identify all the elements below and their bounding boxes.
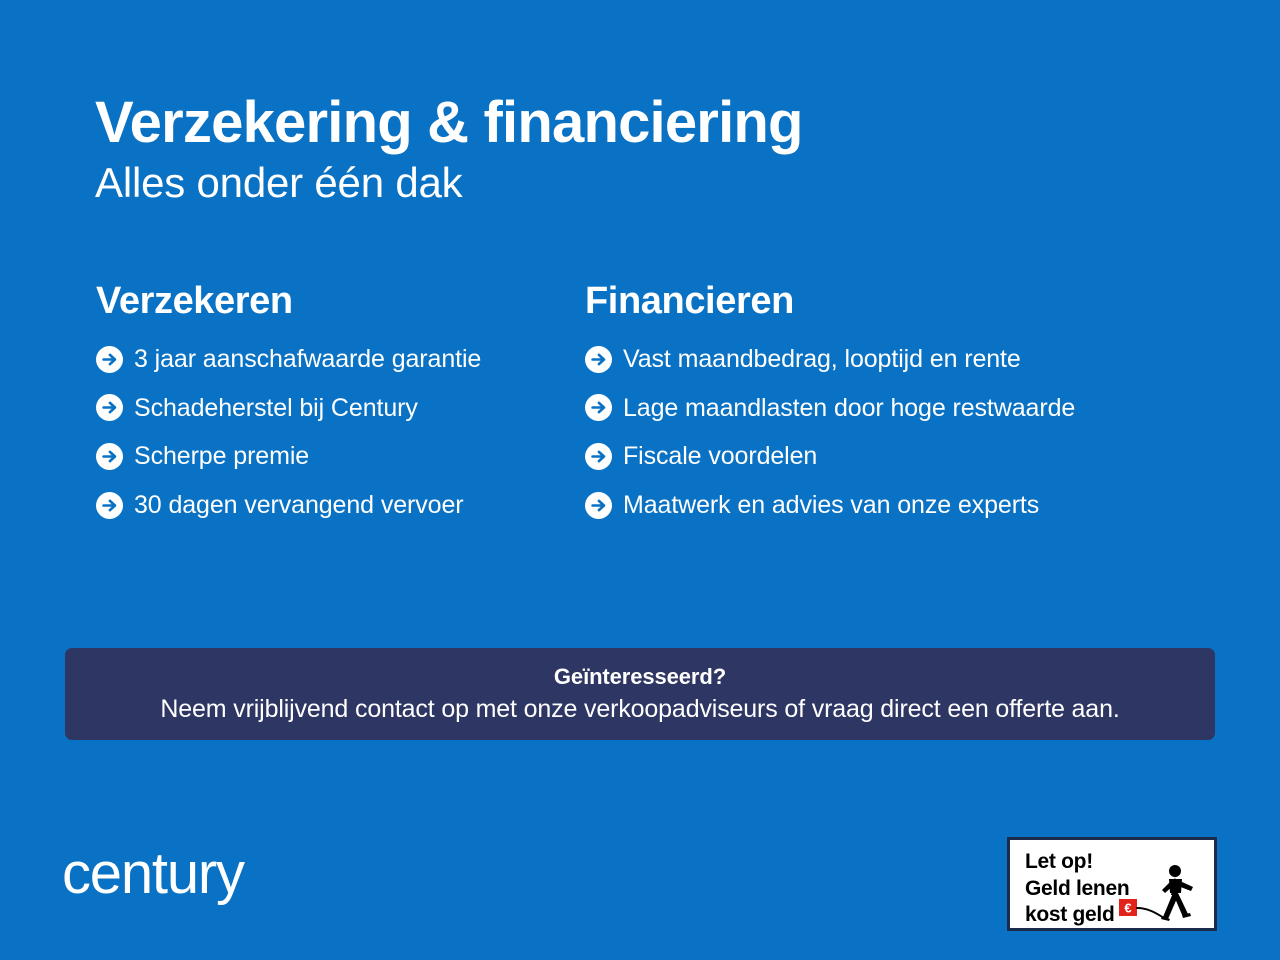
header: Verzekering & financiering Alles onder é… [95,93,1095,209]
column-verzekeren: Verzekeren 3 jaar aanschafwaarde garanti… [0,281,565,520]
arrow-right-circle-icon [585,443,612,470]
arrow-right-circle-icon [96,443,123,470]
cta-banner[interactable]: Geïnteresseerd? Neem vrijblijvend contac… [65,648,1215,740]
arrow-right-circle-icon [585,394,612,421]
column-heading-financieren: Financieren [585,281,1280,323]
list-item: Schadeherstel bij Century [96,394,565,423]
list-item-label: Lage maandlasten door hoge restwaarde [623,394,1075,423]
list-item-label: Scherpe premie [134,442,309,471]
list-item-label: Fiscale voordelen [623,442,817,471]
arrow-right-circle-icon [585,346,612,373]
cta-text: Neem vrijblijvend contact op met onze ve… [160,695,1119,724]
bullet-list-financieren: Vast maandbedrag, looptijd en rente Lage… [585,345,1280,520]
bullet-list-verzekeren: 3 jaar aanschafwaarde garantie Schadeher… [96,345,565,520]
svg-text:€: € [1124,901,1131,916]
list-item-label: Vast maandbedrag, looptijd en rente [623,345,1021,374]
list-item: 30 dagen vervangend vervoer [96,491,565,520]
status-badge: Let op! Geld lenen kost geld € [1007,837,1217,931]
century-logo: century [62,845,244,903]
list-item: 3 jaar aanschafwaarde garantie [96,345,565,374]
page-subtitle: Alles onder één dak [95,158,1095,208]
warning-line-2: Geld lenen [1025,876,1129,903]
list-item: Scherpe premie [96,442,565,471]
slide-root: Verzekering & financiering Alles onder é… [0,0,1280,960]
arrow-right-circle-icon [96,394,123,421]
arrow-right-circle-icon [585,492,612,519]
warning-line-1: Let op! [1025,849,1129,876]
warning-badge-inner: Let op! Geld lenen kost geld € [1010,840,1214,928]
list-item-label: Schadeherstel bij Century [134,394,418,423]
column-financieren: Financieren Vast maandbedrag, looptijd e… [565,281,1280,520]
list-item: Fiscale voordelen [585,442,1280,471]
cta-title: Geïnteresseerd? [554,664,726,690]
feature-columns: Verzekeren 3 jaar aanschafwaarde garanti… [0,281,1280,520]
arrow-right-circle-icon [96,346,123,373]
list-item: Lage maandlasten door hoge restwaarde [585,394,1280,423]
column-heading-verzekeren: Verzekeren [96,281,565,323]
list-item-label: Maatwerk en advies van onze experts [623,491,1039,520]
list-item-label: 3 jaar aanschafwaarde garantie [134,345,481,374]
page-title: Verzekering & financiering [95,93,1095,152]
arrow-right-circle-icon [96,492,123,519]
list-item: Maatwerk en advies van onze experts [585,491,1280,520]
warning-line-3: kost geld [1025,902,1129,929]
list-item: Vast maandbedrag, looptijd en rente [585,345,1280,374]
walking-man-euro-ball-and-chain-icon: € [1118,862,1208,924]
warning-badge-text: Let op! Geld lenen kost geld [1025,849,1129,929]
list-item-label: 30 dagen vervangend vervoer [134,491,463,520]
